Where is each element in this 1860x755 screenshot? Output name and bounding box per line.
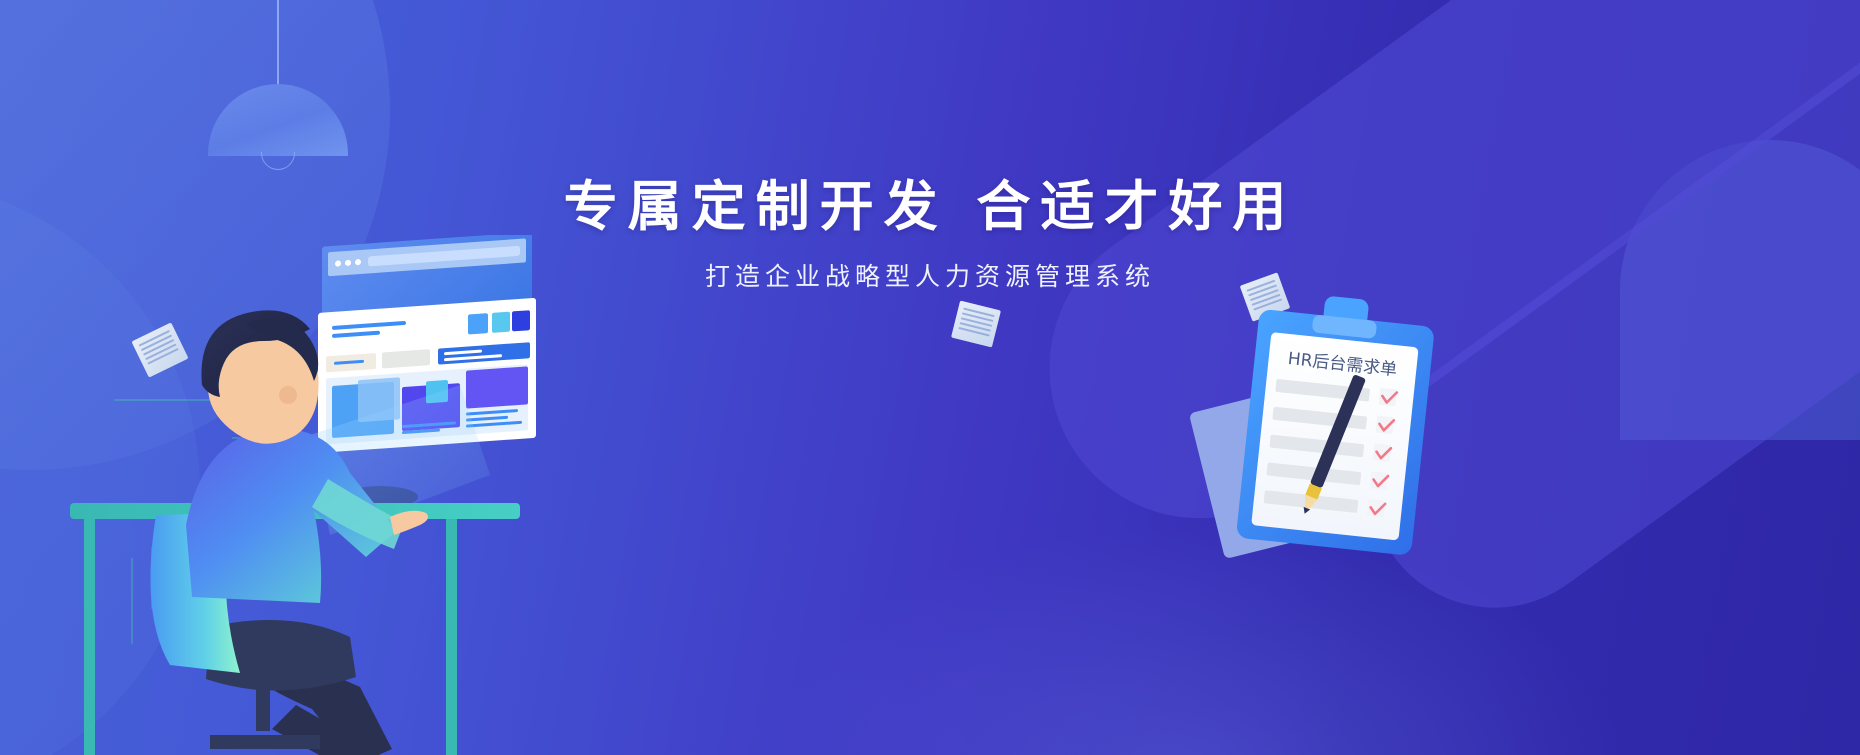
illustration-clipboard: HR后台需求单 (1180, 275, 1520, 635)
illustration-person-at-desk (60, 235, 680, 755)
card-indigo (512, 310, 530, 331)
page-title: 专属定制开发 合适才好用 (0, 175, 1860, 239)
hero-banner: 专属定制开发 合适才好用 打造企业战略型人力资源管理系统 (0, 0, 1860, 755)
banner-copy: 专属定制开发 合适才好用 打造企业战略型人力资源管理系统 (0, 175, 1860, 293)
card-cyan (492, 312, 510, 333)
pendant-lamp-icon (208, 0, 348, 170)
lamp-bulb (261, 152, 295, 170)
card-blue (468, 313, 488, 334)
chip-grey (382, 349, 430, 368)
lamp-cord (277, 0, 279, 86)
page-subtitle: 打造企业战略型人力资源管理系统 (0, 257, 1860, 293)
lamp-shade (208, 84, 348, 156)
